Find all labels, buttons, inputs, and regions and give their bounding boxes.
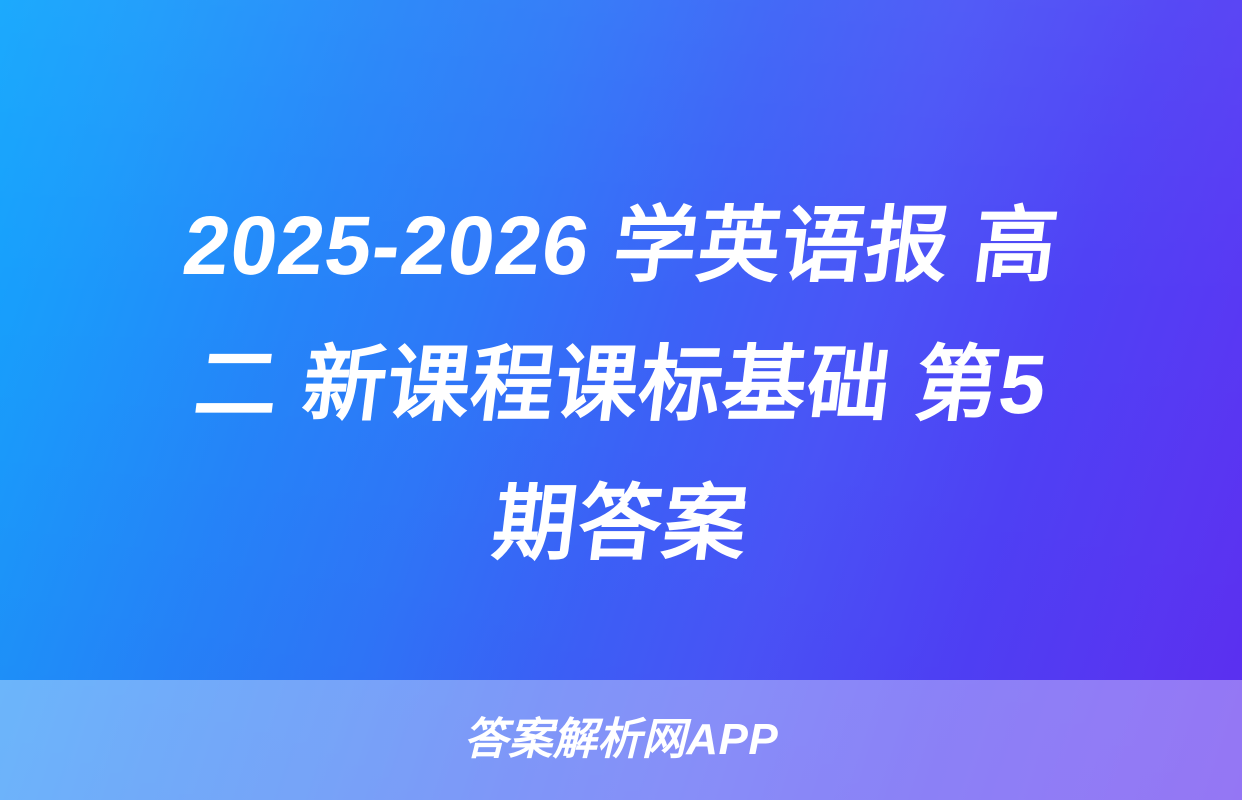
footer-brand-label: 答案解析网APP — [464, 718, 778, 762]
poster-canvas: 2025-2026 学英语报 高 二 新课程课标基础 第5 期答案 答案解析网A… — [0, 0, 1242, 800]
title-line-2: 二 新课程课标基础 第5 — [57, 315, 1184, 454]
page-title: 2025-2026 学英语报 高 二 新课程课标基础 第5 期答案 — [0, 176, 1242, 593]
title-line-1: 2025-2026 学英语报 高 — [57, 176, 1184, 315]
footer-brand-band: 答案解析网APP — [0, 680, 1242, 800]
title-line-3: 期答案 — [57, 454, 1184, 593]
